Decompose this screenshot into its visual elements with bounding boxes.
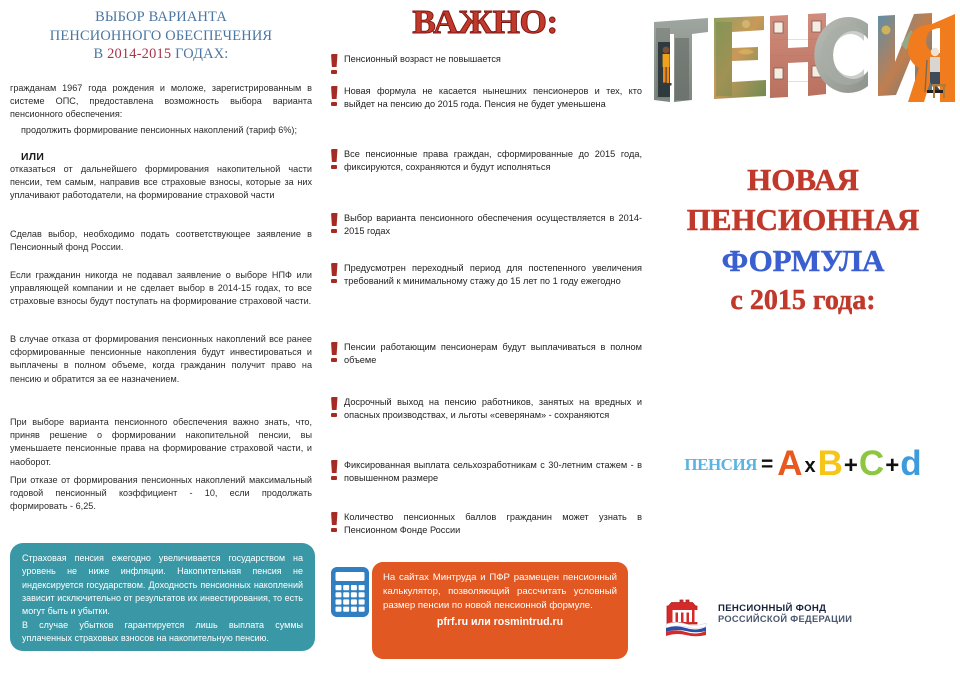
pfr-logo-line-1: ПЕНСИОННЫЙ ФОНД	[718, 603, 852, 614]
heading-line-1: НОВАЯ	[646, 160, 960, 200]
formula-plus-2: +	[884, 452, 900, 479]
pension-formula: ПЕНСИЯ=AxB+C+d	[646, 444, 960, 484]
pensiya-hero-graphic	[646, 4, 960, 108]
hero-letter-P	[654, 18, 708, 102]
important-item: Досрочный выход на пенсию работников, за…	[330, 396, 642, 423]
important-item: Фиксированная выплата сельхозработникам …	[330, 459, 642, 486]
heading-line-4: с 2015 года:	[646, 282, 960, 320]
teal-note-paragraph-2: В случае убытков гарантируется лишь выпл…	[22, 619, 303, 646]
brochure-page: ВЫБОР ВАРИАНТА ПЕНСИОННОГО ОБЕСПЕЧЕНИЯ В…	[0, 0, 960, 679]
important-item-text: Пенсии работающим пенсионерам будут выпл…	[344, 341, 642, 368]
important-item: Пенсионный возраст не повышается	[330, 53, 642, 78]
formula-plus-1: +	[843, 452, 859, 479]
right-column: НОВАЯ ПЕНСИОННАЯ ФОРМУЛА с 2015 года: ПЕ…	[646, 0, 960, 679]
formula-equals: =	[757, 453, 777, 476]
calculator-callout-box: На сайтах Минтруда и ПФР размещен пенсио…	[372, 562, 628, 659]
hero-letter-E	[714, 16, 766, 99]
important-heading: ВАЖНО:	[320, 6, 651, 40]
pfr-logo-text: ПЕНСИОННЫЙ ФОНД РОССИЙСКОЙ ФЕДЕРАЦИИ	[718, 603, 852, 625]
teal-callout-box: Страховая пенсия ежегодно увеличивается …	[10, 543, 315, 651]
title-line-2: ПЕНСИОННОГО ОБЕСПЕЧЕНИЯ	[8, 27, 314, 46]
pfr-emblem-icon	[662, 597, 710, 637]
left-column-title: ВЫБОР ВАРИАНТА ПЕНСИОННОГО ОБЕСПЕЧЕНИЯ В…	[8, 8, 314, 64]
important-item-text: Выбор варианта пенсионного обеспечения о…	[344, 212, 642, 239]
pfr-logo: ПЕНСИОННЫЙ ФОНД РОССИЙСКОЙ ФЕДЕРАЦИИ	[662, 597, 942, 639]
important-item: Все пенсионные права граждан, сформирова…	[330, 148, 642, 175]
paragraph-option-2: отказаться от дальнейшего формирования н…	[10, 163, 312, 203]
title-line-3: В 2014-2015 ГОДАХ:	[8, 45, 314, 64]
important-item: Выбор варианта пенсионного обеспечения о…	[330, 212, 642, 239]
right-column-heading: НОВАЯ ПЕНСИОННАЯ ФОРМУЛА с 2015 года:	[646, 160, 960, 320]
exclamation-icon	[330, 397, 339, 421]
exclamation-icon	[330, 512, 339, 536]
important-item: Предусмотрен переходный период для посте…	[330, 262, 642, 289]
calculator-note-text: На сайтах Минтруда и ПФР размещен пенсио…	[383, 571, 617, 613]
important-item-text: Фиксированная выплата сельхозработникам …	[344, 459, 642, 486]
formula-subject: ПЕНСИЯ	[684, 455, 757, 474]
formula-term-b: B	[818, 444, 843, 483]
paragraph-option-1: продолжить формирование пенсионных накоп…	[10, 124, 312, 137]
important-item-text: Все пенсионные права граждан, сформирова…	[344, 148, 642, 175]
formula-term-a: A	[777, 444, 802, 483]
exclamation-icon	[330, 149, 339, 173]
formula-term-c: C	[859, 444, 884, 483]
exclamation-icon	[330, 86, 339, 110]
exclamation-icon	[330, 263, 339, 287]
paragraph-important: При выборе варианта пенсионного обеспече…	[10, 416, 312, 469]
exclamation-icon	[330, 213, 339, 237]
paragraph-coefficient: При отказе от формирования пенсионных на…	[10, 474, 312, 514]
calculator-icon	[330, 566, 370, 618]
teal-note-paragraph-1: Страховая пенсия ежегодно увеличивается …	[22, 552, 303, 619]
important-item-text: Предусмотрен переходный период для посте…	[344, 262, 642, 289]
important-item-text: Количество пенсионных баллов гражданин м…	[344, 511, 642, 538]
paragraph-refusal: В случае отказа от формирования пенсионн…	[10, 333, 312, 386]
paragraph-never-applied: Если гражданин никогда не подавал заявле…	[10, 269, 312, 309]
formula-times: x	[803, 455, 818, 477]
title-years: 2014-2015	[107, 46, 171, 62]
heading-line-3: ФОРМУЛА	[646, 241, 960, 282]
paragraph-apply: Сделав выбор, необходимо подать соответс…	[10, 228, 312, 254]
important-item-text: Досрочный выход на пенсию работников, за…	[344, 396, 642, 423]
title-suffix: ГОДАХ:	[171, 46, 228, 62]
important-item: Пенсии работающим пенсионерам будут выпл…	[330, 341, 642, 368]
paragraph-intro: гражданам 1967 года рождения и моложе, з…	[10, 82, 312, 122]
title-line-1: ВЫБОР ВАРИАНТА	[8, 8, 314, 27]
exclamation-icon	[330, 54, 339, 78]
important-item-text: Новая формула не касается нынешних пенси…	[344, 85, 642, 112]
formula-term-d: d	[900, 444, 921, 483]
pfr-logo-line-2: РОССИЙСКОЙ ФЕДЕРАЦИИ	[718, 614, 852, 625]
heading-line-2: ПЕНСИОННАЯ	[646, 200, 960, 240]
exclamation-icon	[330, 342, 339, 366]
left-column: ВЫБОР ВАРИАНТА ПЕНСИОННОГО ОБЕСПЕЧЕНИЯ В…	[0, 0, 322, 679]
exclamation-icon	[330, 460, 339, 484]
important-item-text: Пенсионный возраст не повышается	[344, 53, 642, 66]
calculator-sites-link[interactable]: pfrf.ru или rosmintrud.ru	[383, 615, 617, 630]
important-item: Новая формула не касается нынешних пенси…	[330, 85, 642, 112]
important-item: Количество пенсионных баллов гражданин м…	[330, 511, 642, 538]
title-prefix: В	[94, 46, 108, 62]
